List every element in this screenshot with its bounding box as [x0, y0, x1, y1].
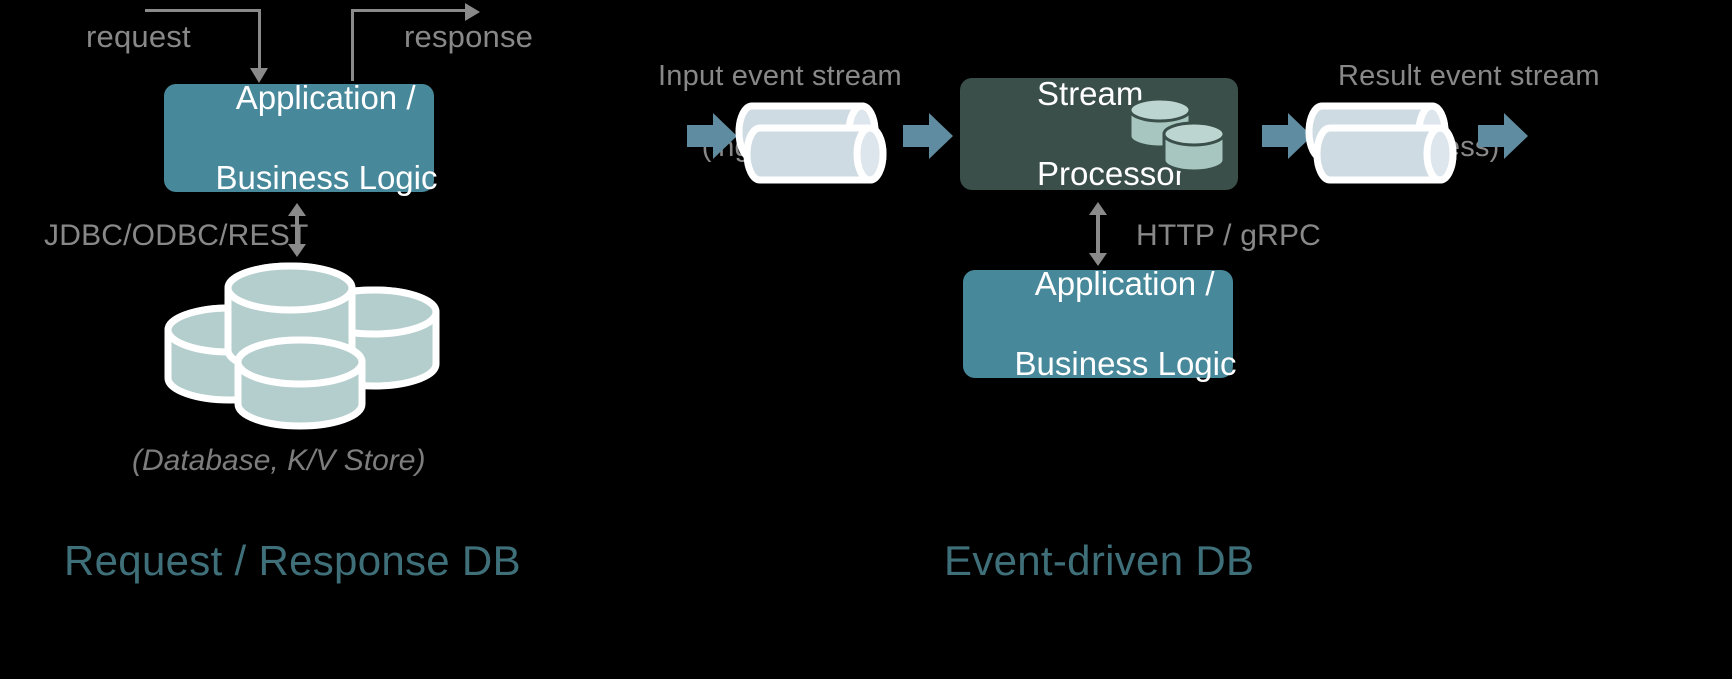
right-section-title: Event-driven DB	[944, 537, 1254, 585]
request-arrow-horizontal-segment	[145, 9, 261, 12]
response-arrow-horizontal-segment	[351, 9, 467, 12]
right-application-box-line1: Application /	[1035, 265, 1215, 302]
state-store-icon	[1124, 92, 1234, 176]
stream-processor-box[interactable]: Stream Processor	[960, 78, 1238, 190]
right-application-box[interactable]: Application / Business Logic	[963, 270, 1233, 378]
left-application-box[interactable]: Application / Business Logic	[164, 84, 434, 192]
response-arrow-head-icon	[465, 3, 480, 21]
chevron-arrow-icon-2	[903, 113, 953, 159]
database-store-caption: (Database, K/V Store)	[132, 444, 425, 478]
jdbc-odbc-rest-label: JDBC/ODBC/REST	[44, 218, 309, 255]
chevron-arrow-icon-1	[687, 113, 737, 159]
left-application-box-line1: Application /	[236, 79, 416, 116]
chevron-arrow-icon-4	[1478, 113, 1528, 159]
left-section-title: Request / Response DB	[64, 537, 521, 585]
right-application-box-line2: Business Logic	[1015, 345, 1237, 382]
input-stream-log-icon	[740, 88, 890, 186]
left-application-box-line2: Business Logic	[216, 159, 438, 196]
database-cluster-icon	[150, 262, 450, 432]
left-bidirectional-arrow-icon	[288, 203, 306, 257]
result-stream-log-icon	[1310, 88, 1460, 186]
right-application-box-label: Application / Business Logic	[960, 223, 1237, 424]
diagram-canvas: request response Application / Business …	[0, 0, 1732, 679]
